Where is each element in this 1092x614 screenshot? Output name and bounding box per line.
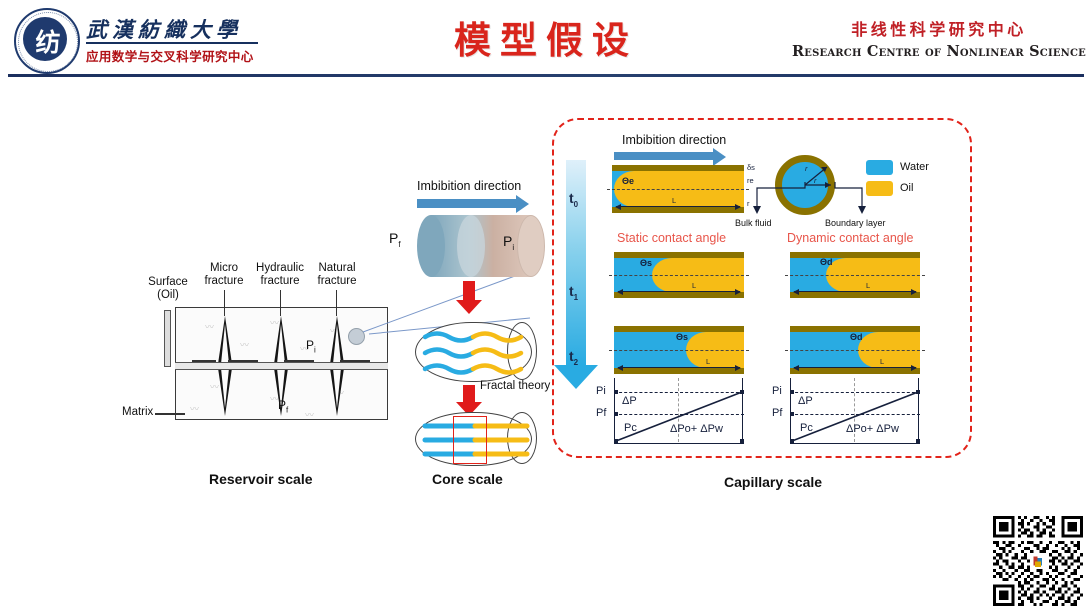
legend-label-oil: Oil bbox=[900, 182, 913, 194]
header-divider bbox=[8, 74, 1084, 77]
reservoir-scale-diagram: 〰 〰 〰 〰 〰 〰 〰 〰 〰 〰 bbox=[150, 280, 390, 420]
time-label-t1: t1 bbox=[569, 283, 578, 302]
core-imbibition-arrow bbox=[417, 199, 517, 208]
time-label-t0: t0 bbox=[569, 190, 578, 209]
static-contact-angle-title: Static contact angle bbox=[617, 231, 726, 245]
core-zoom-selection bbox=[453, 416, 487, 464]
core-pore-paths bbox=[419, 325, 539, 379]
reservoir-pi-label: Pi bbox=[306, 338, 316, 354]
tube-wall-bottom bbox=[614, 368, 744, 374]
micro-fracture-label: Micro fracture bbox=[194, 262, 254, 288]
research-centre-block: 非线性科学研究中心 Research Centre of Nonlinear S… bbox=[792, 16, 1086, 60]
pressure-deltap-label: ΔP bbox=[798, 395, 813, 407]
theta-d-label-t2: Θd bbox=[850, 332, 863, 342]
pressure-slope-line bbox=[614, 378, 746, 446]
pressure-pf-label: Pf bbox=[772, 407, 782, 419]
tube-length-measure bbox=[794, 291, 916, 292]
tube-wall-bottom bbox=[790, 292, 920, 298]
delta-s-label: δs bbox=[747, 163, 755, 172]
r-label: r bbox=[747, 199, 750, 208]
tube-length-measure bbox=[618, 291, 740, 292]
qr-code[interactable] bbox=[993, 516, 1083, 606]
caption-capillary-scale: Capillary scale bbox=[724, 474, 822, 490]
wellbore-vertical bbox=[164, 310, 171, 367]
core-flow-arrow-1 bbox=[463, 281, 475, 301]
tube-wall-bottom bbox=[612, 207, 744, 213]
theta-e-label: Θe bbox=[622, 176, 634, 186]
pressure-chart-dynamic: Pi Pf ΔP Pc ΔPo+ ΔPw bbox=[790, 378, 922, 446]
caption-core-scale: Core scale bbox=[432, 471, 503, 487]
tube-length-label: L bbox=[880, 357, 884, 366]
surface-oil-label: Surface (Oil) bbox=[140, 276, 196, 302]
core-flow-arrow-2 bbox=[463, 385, 475, 403]
tube-length-label: L bbox=[866, 281, 870, 290]
time-axis-arrowhead bbox=[554, 365, 598, 389]
legend-label-water: Water bbox=[900, 161, 929, 173]
matrix-label: Matrix bbox=[122, 406, 153, 419]
slide-header: 纺 武漢紡織大學 应用数学与交叉科学研究中心 模型假设 非线性科学研究中心 Re… bbox=[0, 0, 1092, 80]
theta-s-label-t1: Θs bbox=[640, 258, 652, 268]
radius-outer-label: r bbox=[805, 164, 808, 173]
core-imbibition-label: Imbibition direction bbox=[417, 179, 521, 193]
slide-root: 纺 武漢紡織大學 应用数学与交叉科学研究中心 模型假设 非线性科学研究中心 Re… bbox=[0, 0, 1092, 614]
tube-length-label: L bbox=[692, 281, 696, 290]
tube-length-measure bbox=[794, 367, 916, 368]
tube-axis bbox=[609, 350, 749, 351]
theta-s-label-t2: Θs bbox=[676, 332, 688, 342]
pressure-pc-label: Pc bbox=[800, 422, 813, 434]
tube-wall-bottom bbox=[614, 292, 744, 298]
reservoir-pf-label: Pf bbox=[278, 398, 288, 414]
dynamic-contact-angle-title: Dynamic contact angle bbox=[787, 231, 913, 245]
legend-swatch-oil bbox=[866, 181, 893, 196]
capillary-imbibition-arrow bbox=[614, 152, 714, 160]
bulk-boundary-leaders bbox=[752, 182, 867, 218]
tube-axis-t0 bbox=[607, 189, 749, 190]
capillary-imbibition-label: Imbibition direction bbox=[622, 133, 726, 147]
pressure-pi-label: Pi bbox=[596, 385, 606, 397]
bulk-fluid-label: Bulk fluid bbox=[735, 218, 772, 228]
caption-reservoir-scale: Reservoir scale bbox=[209, 471, 313, 487]
pressure-sum-label: ΔPo+ ΔPw bbox=[670, 423, 723, 435]
core-cylinder bbox=[417, 215, 542, 277]
tube-length-label: L bbox=[706, 357, 710, 366]
boundary-layer-label: Boundary layer bbox=[825, 218, 886, 228]
tube-axis bbox=[609, 275, 749, 276]
tube-length-label-t0: L bbox=[672, 196, 676, 205]
fractal-theory-label: Fractal theory bbox=[480, 380, 550, 392]
natural-fracture-label: Natural fracture bbox=[306, 262, 368, 288]
research-centre-en: Research Centre of Nonlinear Science bbox=[792, 43, 1086, 60]
pressure-slope-line bbox=[790, 378, 922, 446]
legend-swatch-water bbox=[866, 160, 893, 175]
hydraulic-fracture-label: Hydraulic fracture bbox=[246, 262, 314, 288]
pressure-sum-label: ΔPo+ ΔPw bbox=[846, 423, 899, 435]
tube-length-measure-t0 bbox=[616, 206, 740, 207]
qr-code-image bbox=[993, 516, 1083, 606]
core-pf-label: Pf bbox=[389, 230, 401, 249]
tube-axis bbox=[785, 275, 925, 276]
core-pi-label: Pi bbox=[503, 233, 514, 252]
pressure-pf-label: Pf bbox=[596, 407, 606, 419]
pressure-chart-static: Pi Pf ΔP Pc ΔPo+ ΔPw bbox=[614, 378, 746, 446]
theta-d-label-t1: Θd bbox=[820, 257, 833, 267]
tube-length-measure bbox=[618, 367, 740, 368]
tube-axis bbox=[785, 350, 925, 351]
pressure-pc-label: Pc bbox=[624, 422, 637, 434]
pressure-deltap-label: ΔP bbox=[622, 395, 637, 407]
pressure-pi-label: Pi bbox=[772, 385, 782, 397]
core-scale-diagram: Imbibition direction Pf Pi Fractal bbox=[395, 175, 545, 445]
time-label-t2: t2 bbox=[569, 348, 578, 367]
tube-wall-bottom bbox=[790, 368, 920, 374]
research-centre-cn: 非线性科学研究中心 bbox=[792, 16, 1086, 40]
